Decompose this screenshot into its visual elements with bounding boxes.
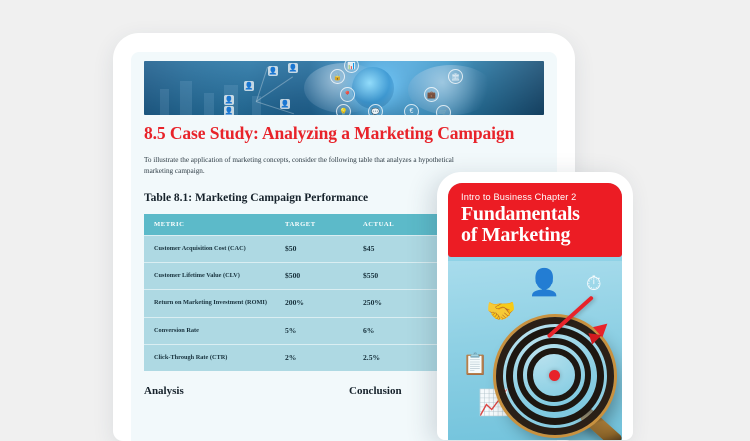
cover-title-line1: Fundamentals — [461, 204, 609, 225]
cell-target: $500 — [275, 263, 353, 290]
briefcase-icon: 💼 — [424, 87, 439, 102]
clipboard-chart-icon: 📋 — [462, 353, 488, 377]
phone-screen[interactable]: Intro to Business Chapter 2 Fundamentals… — [448, 183, 622, 440]
magnifier-target-graphic — [496, 317, 614, 435]
column-header-metric: METRIC — [144, 214, 275, 236]
analysis-heading: Analysis — [144, 385, 349, 397]
lock-icon: 🔒 — [330, 69, 345, 84]
bank-icon: 🏛 — [448, 69, 463, 84]
hero-banner-image: 👤 👤 👤 👤 👤 👤 🔒 📍 💡 💬 📊 🏛 💼 € 🛒 — [144, 61, 544, 115]
user-node-icon: 👤 — [244, 81, 254, 91]
target-bullseye — [549, 370, 560, 381]
cell-actual: $45 — [353, 235, 429, 262]
hero-building — [160, 89, 169, 115]
cell-metric: Return on Marketing Investment (ROMI) — [144, 290, 275, 317]
column-header-target: TARGET — [275, 214, 353, 236]
cell-metric: Customer Lifetime Value (CLV) — [144, 263, 275, 290]
column-header-actual: ACTUAL — [353, 214, 429, 236]
user-node-icon: 👤 — [268, 66, 278, 76]
cell-actual: 2.5% — [353, 344, 429, 371]
phone-device[interactable]: Intro to Business Chapter 2 Fundamentals… — [437, 172, 633, 440]
book-cover-title-band: Intro to Business Chapter 2 Fundamentals… — [448, 183, 622, 257]
cell-actual: 250% — [353, 290, 429, 317]
shopping-cart-icon: 🛒 — [436, 105, 451, 115]
book-cover-artwork: 👤 ⏱ 📅 🤝 📋 📈 — [448, 261, 622, 440]
hero-building — [204, 93, 214, 115]
user-node-icon: 👤 — [288, 63, 298, 73]
page-title: 8.5 Case Study: Analyzing a Marketing Ca… — [144, 124, 544, 144]
chat-icon: 💬 — [368, 104, 383, 115]
user-node-icon: 👤 — [280, 99, 290, 109]
businessperson-icon: 👤 — [528, 267, 560, 298]
hero-globe — [352, 67, 394, 109]
scene: 👤 👤 👤 👤 👤 👤 🔒 📍 💡 💬 📊 🏛 💼 € 🛒 — [0, 0, 750, 422]
cell-metric: Customer Acquisition Cost (CAC) — [144, 235, 275, 262]
cell-actual: $550 — [353, 263, 429, 290]
location-pin-icon: 📍 — [340, 87, 355, 102]
cell-target: 2% — [275, 344, 353, 371]
cover-title-line2: of Marketing — [461, 225, 609, 246]
lightbulb-icon: 💡 — [336, 104, 351, 115]
cell-target: 200% — [275, 290, 353, 317]
cell-actual: 6% — [353, 317, 429, 344]
cell-metric: Conversion Rate — [144, 317, 275, 344]
cell-target: $50 — [275, 235, 353, 262]
user-node-icon: 👤 — [224, 106, 234, 115]
cell-metric: Click-Through Rate (CTR) — [144, 344, 275, 371]
conclusion-heading: Conclusion — [349, 385, 402, 397]
user-node-icon: 👤 — [224, 95, 234, 105]
hero-building — [180, 81, 192, 115]
cover-kicker: Intro to Business Chapter 2 — [461, 192, 609, 202]
intro-paragraph: To illustrate the application of marketi… — [144, 155, 474, 178]
cell-target: 5% — [275, 317, 353, 344]
currency-icon: € — [404, 104, 419, 115]
stopwatch-icon: ⏱ — [586, 273, 602, 296]
